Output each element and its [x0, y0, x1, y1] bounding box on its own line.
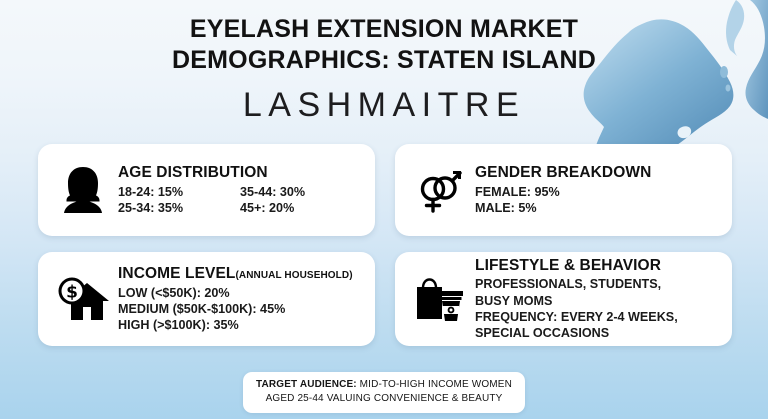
target-audience-line-1: TARGET AUDIENCE: MID-TO-HIGH INCOME WOME…: [253, 378, 515, 392]
card-title-main: INCOME LEVEL: [118, 265, 235, 282]
stat-item: 18-24: 15%: [118, 184, 240, 200]
stat-item: 25-34: 35%: [118, 200, 240, 216]
card-title-subtext: (ANNUAL HOUSEHOLD): [235, 270, 352, 281]
stat-item: FREQUENCY: EVERY 2-4 WEEKS,: [475, 309, 722, 325]
stat-item: MEDIUM ($50K-$100K): 45%: [118, 301, 365, 317]
svg-text:$: $: [66, 283, 78, 303]
target-audience-banner: TARGET AUDIENCE: MID-TO-HIGH INCOME WOME…: [243, 372, 525, 413]
poster-header: EYELASH EXTENSION MARKET DEMOGRAPHICS: S…: [0, 14, 768, 122]
card-age-distribution-body: AGE DISTRIBUTION 18-24: 15% 35-44: 30% 2…: [114, 164, 365, 216]
stat-item: FEMALE: 95%: [475, 184, 722, 200]
card-title: LIFESTYLE & BEHAVIOR: [475, 257, 722, 274]
stat-item: BUSY MOMS: [475, 293, 722, 309]
target-audience-line-2: AGED 25-44 VALUING CONVENIENCE & BEAUTY: [253, 392, 515, 406]
shopping-bag-coffee-icon: [409, 275, 471, 323]
card-income-level-body: INCOME LEVEL(ANNUAL HOUSEHOLD) LOW (<$50…: [114, 265, 365, 333]
card-lifestyle-behavior-body: LIFESTYLE & BEHAVIOR PROFESSIONALS, STUD…: [471, 257, 722, 341]
gender-symbols-icon: [409, 165, 471, 215]
stat-item: 35-44: 30%: [240, 184, 365, 200]
target-audience-label: TARGET AUDIENCE:: [256, 379, 357, 390]
female-avatar-icon: [52, 165, 114, 215]
card-age-distribution: AGE DISTRIBUTION 18-24: 15% 35-44: 30% 2…: [38, 144, 375, 236]
stat-item: MALE: 5%: [475, 200, 722, 216]
stat-item: 45+: 20%: [240, 200, 365, 216]
page-title-line-2: DEMOGRAPHICS: STATEN ISLAND: [0, 45, 768, 76]
card-income-level: $ INCOME LEVEL(ANNUAL HOUSEHOLD) LOW (<$…: [38, 252, 375, 346]
card-lifestyle-behavior: LIFESTYLE & BEHAVIOR PROFESSIONALS, STUD…: [395, 252, 732, 346]
demographics-card-grid: AGE DISTRIBUTION 18-24: 15% 35-44: 30% 2…: [38, 144, 732, 346]
stat-item: LOW (<$50K): 20%: [118, 285, 365, 301]
stat-item: SPECIAL OCCASIONS: [475, 325, 722, 341]
brand-wordmark: LASHMAITRE: [0, 88, 768, 122]
card-title: GENDER BREAKDOWN: [475, 164, 722, 181]
target-audience-value: MID-TO-HIGH INCOME WOMEN: [357, 379, 512, 390]
card-title: AGE DISTRIBUTION: [118, 164, 365, 181]
infographic-poster: EYELASH EXTENSION MARKET DEMOGRAPHICS: S…: [0, 0, 768, 419]
stat-item: PROFESSIONALS, STUDENTS,: [475, 276, 722, 292]
page-title-line-1: EYELASH EXTENSION MARKET: [0, 14, 768, 45]
card-gender-breakdown: GENDER BREAKDOWN FEMALE: 95% MALE: 5%: [395, 144, 732, 236]
stat-item: HIGH (>$100K): 35%: [118, 317, 365, 333]
house-dollar-icon: $: [52, 275, 114, 323]
age-stat-grid: 18-24: 15% 35-44: 30% 25-34: 35% 45+: 20…: [118, 184, 365, 216]
card-title: INCOME LEVEL(ANNUAL HOUSEHOLD): [118, 265, 365, 282]
card-gender-breakdown-body: GENDER BREAKDOWN FEMALE: 95% MALE: 5%: [471, 164, 722, 216]
